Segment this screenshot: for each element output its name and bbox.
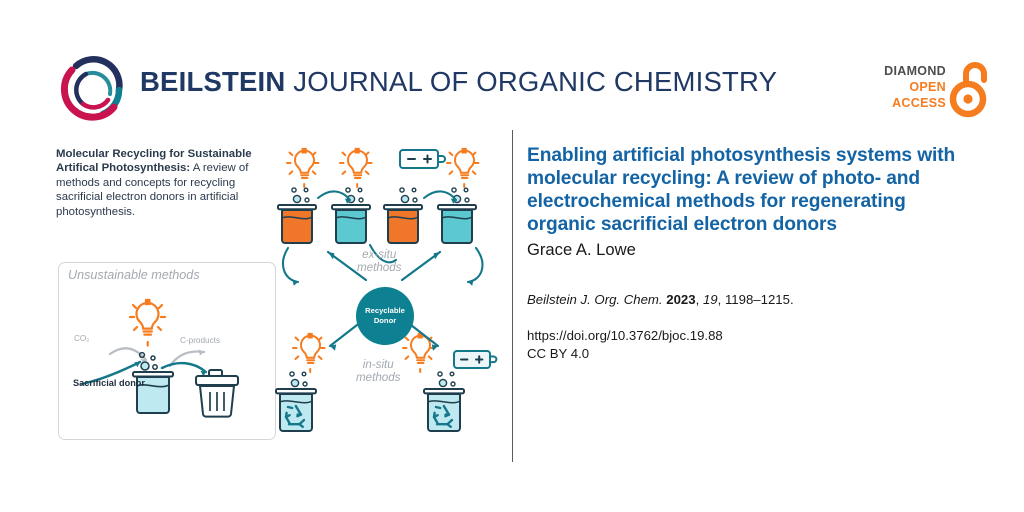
beaker-teal-icon	[332, 205, 370, 243]
recyclable-donor-node: Recyclable Donor	[356, 287, 414, 345]
beilstein-logo	[56, 52, 130, 126]
citation-year: 2023	[666, 292, 695, 307]
in-situ-line1: in-situ	[363, 358, 394, 371]
vertical-divider	[512, 130, 513, 462]
journal-title-rest: JOURNAL OF ORGANIC CHEMISTRY	[285, 66, 777, 97]
c-products-label: C-products	[180, 336, 220, 345]
open-access-text: DIAMOND OPEN ACCESS	[872, 63, 946, 111]
journal-title-bold: BEILSTEIN	[140, 66, 285, 97]
co2-label: CO₂	[74, 334, 89, 343]
article-doi[interactable]: https://doi.org/10.3762/bjoc.19.88	[527, 327, 723, 345]
oa-line-diamond: DIAMOND	[872, 63, 946, 79]
article-citation: Beilstein J. Org. Chem. 2023, 19, 1198–1…	[527, 292, 794, 307]
ex-situ-line1: ex-situ	[362, 248, 396, 261]
article-title: Enabling artificial photosynthesis syste…	[527, 144, 977, 236]
open-access-badge: DIAMOND OPEN ACCESS	[872, 60, 992, 122]
oa-line-access: ACCESS	[872, 95, 946, 111]
article-author: Grace A. Lowe	[527, 240, 636, 260]
open-lock-icon	[952, 60, 994, 118]
beaker-orange-icon	[278, 205, 316, 243]
lightbulb-icon	[293, 334, 325, 372]
sacrificial-donor-text: Sacrificial donor	[73, 378, 145, 388]
recyclable-donor-line1: Recyclable	[365, 306, 405, 315]
recyclable-donor-line2: Donor	[374, 316, 396, 325]
lightbulb-icon	[287, 149, 319, 187]
citation-pages: 1198–1215.	[725, 292, 794, 307]
citation-journal: Beilstein J. Org. Chem.	[527, 292, 663, 307]
ex-situ-line2: methods	[357, 261, 401, 274]
article-license: CC BY 4.0	[527, 346, 589, 361]
ex-situ-methods-label: ex-situ methods	[357, 248, 401, 275]
battery-icon	[400, 150, 445, 168]
lightbulb-icon	[340, 149, 372, 187]
lightbulb-icon	[130, 300, 165, 346]
journal-title: BEILSTEIN JOURNAL OF ORGANIC CHEMISTRY	[140, 66, 777, 98]
citation-volume: 19	[703, 292, 718, 307]
in-situ-methods-label: in-situ methods	[356, 358, 400, 385]
beaker-orange-icon	[384, 205, 422, 243]
in-situ-line2: methods	[356, 371, 400, 384]
beaker-teal-icon	[438, 205, 476, 243]
recycle-beaker-icon	[424, 389, 464, 431]
lightbulb-icon	[447, 149, 479, 187]
battery-icon	[454, 351, 496, 368]
unsustainable-methods-illustration	[58, 262, 276, 440]
abstract-blurb: Molecular Recycling for Sustainable Arti…	[56, 147, 282, 219]
trash-bin-icon	[196, 370, 238, 417]
page-header: BEILSTEIN JOURNAL OF ORGANIC CHEMISTRY D…	[0, 0, 1024, 132]
oa-line-open: OPEN	[872, 79, 946, 95]
sacrificial-donor-label: Sacrificial donor	[73, 378, 145, 390]
recycle-beaker-icon	[276, 389, 316, 431]
